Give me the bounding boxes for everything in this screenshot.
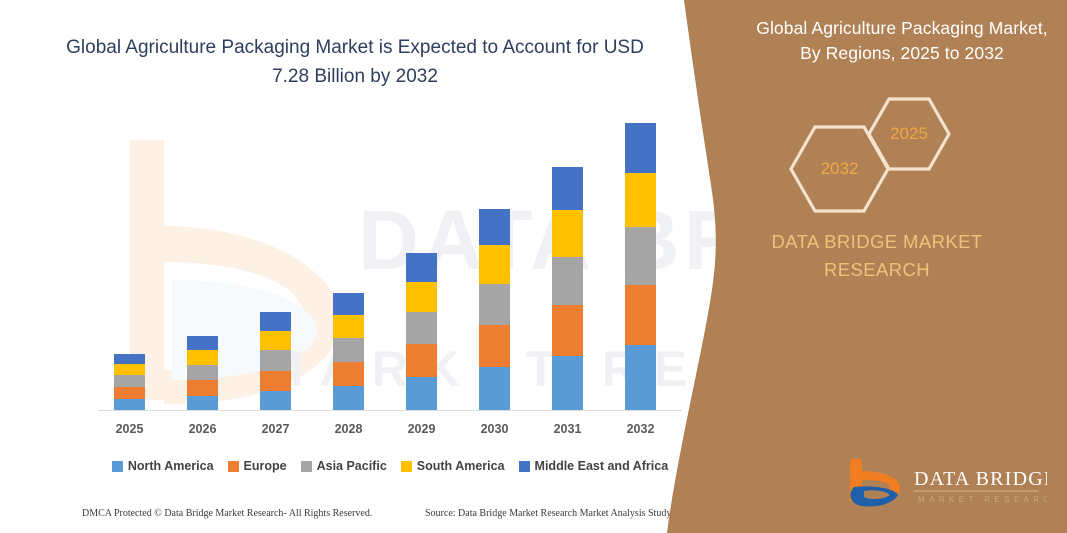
bar-segment [333, 293, 364, 315]
legend-item[interactable]: North America [112, 459, 214, 473]
x-axis-label: 2026 [173, 422, 233, 436]
bar-segment [114, 375, 145, 386]
page-title: Global Agriculture Packaging Market is E… [60, 34, 650, 91]
data-bridge-logo: DATA BRIDGE MARKET RESEARCH [842, 455, 1047, 513]
bar-segment [625, 123, 656, 174]
x-axis-label: 2028 [319, 422, 379, 436]
legend-swatch-icon [112, 461, 123, 472]
bar-segment [625, 173, 656, 227]
bar-segment [333, 362, 364, 387]
x-axis-label: 2030 [465, 422, 525, 436]
right-panel-title: Global Agriculture Packaging Market, By … [752, 16, 1052, 66]
bar-segment [333, 338, 364, 362]
right-panel-content: Global Agriculture Packaging Market, By … [667, 0, 1067, 533]
bar-column [260, 312, 291, 411]
x-axis-label: 2031 [538, 422, 598, 436]
legend-swatch-icon [301, 461, 312, 472]
legend-label: Middle East and Africa [535, 459, 669, 473]
bar-column [625, 123, 656, 411]
bar-segment [260, 391, 291, 411]
bar-segment [114, 364, 145, 375]
bar-segment [260, 350, 291, 370]
bar-segment [625, 285, 656, 346]
bar-segment [333, 315, 364, 338]
bar-segment [479, 245, 510, 284]
legend-item[interactable]: Middle East and Africa [519, 459, 669, 473]
legend-item[interactable]: South America [401, 459, 505, 473]
legend-label: Asia Pacific [317, 459, 387, 473]
bar-segment [187, 336, 218, 350]
bar-segment [114, 354, 145, 365]
bar-column [333, 293, 364, 411]
legend-item[interactable]: Europe [228, 459, 287, 473]
bar-column [406, 253, 437, 411]
x-axis-label: 2029 [392, 422, 452, 436]
bar-segment [552, 257, 583, 306]
bar-segment [187, 350, 218, 365]
bar-segment [552, 356, 583, 411]
bar-column [479, 209, 510, 411]
footer: DMCA Protected © Data Bridge Market Rese… [0, 505, 700, 529]
bar-segment [479, 367, 510, 411]
legend-swatch-icon [401, 461, 412, 472]
x-axis-line [98, 410, 682, 411]
stacked-bar-chart [98, 110, 682, 411]
chart-legend: North AmericaEuropeAsia PacificSouth Ame… [98, 455, 682, 477]
bar-segment [479, 209, 510, 245]
brand-name: DATA BRIDGE MARKET RESEARCH [722, 228, 1032, 284]
bar-segment [187, 365, 218, 380]
bar-segment [187, 380, 218, 395]
bar-segment [406, 312, 437, 344]
bar-segment [406, 282, 437, 312]
bar-segment [552, 167, 583, 211]
chart-area: Global Agriculture Packaging Market is E… [0, 0, 700, 533]
bar-segment [479, 284, 510, 324]
legend-label: North America [128, 459, 214, 473]
legend-label: Europe [244, 459, 287, 473]
bar-segment [406, 253, 437, 282]
bar-segment [333, 386, 364, 411]
hexagon-badge-start-year: 2025 [865, 95, 953, 173]
logo-tagline: MARKET RESEARCH [918, 495, 1047, 504]
legend-item[interactable]: Asia Pacific [301, 459, 387, 473]
bar-segment [552, 210, 583, 256]
legend-label: South America [417, 459, 505, 473]
x-axis-label: 2025 [100, 422, 160, 436]
bar-segment [260, 312, 291, 331]
infographic-root: DATA BRIDGE MARKET RESEARCH Global Agric… [0, 0, 1067, 533]
bar-segment [260, 331, 291, 350]
right-panel: Global Agriculture Packaging Market, By … [667, 0, 1067, 533]
logo-wordmark: DATA BRIDGE [914, 468, 1047, 490]
footer-copyright: DMCA Protected © Data Bridge Market Rese… [82, 508, 372, 519]
bar-segment [625, 345, 656, 411]
bar-column [187, 336, 218, 411]
bar-segment [625, 227, 656, 284]
bar-column [114, 354, 145, 411]
bar-segment [406, 377, 437, 411]
data-bridge-logo-icon: DATA BRIDGE MARKET RESEARCH [842, 455, 1047, 513]
x-axis-label: 2032 [611, 422, 671, 436]
bar-segment [406, 344, 437, 377]
legend-swatch-icon [519, 461, 530, 472]
hexagon-badges: 2032 2025 [777, 95, 1007, 210]
bar-segment [552, 305, 583, 356]
bar-segment [260, 371, 291, 392]
x-axis-label: 2027 [246, 422, 306, 436]
bar-segment [114, 387, 145, 399]
bar-segment [187, 396, 218, 411]
x-axis-labels: 20252026202720282029203020312032 [98, 420, 682, 442]
bar-column [552, 167, 583, 411]
legend-swatch-icon [228, 461, 239, 472]
footer-source: Source: Data Bridge Market Research Mark… [425, 508, 694, 519]
bar-segment [479, 325, 510, 367]
hexagon-start-year-label: 2025 [865, 95, 953, 173]
